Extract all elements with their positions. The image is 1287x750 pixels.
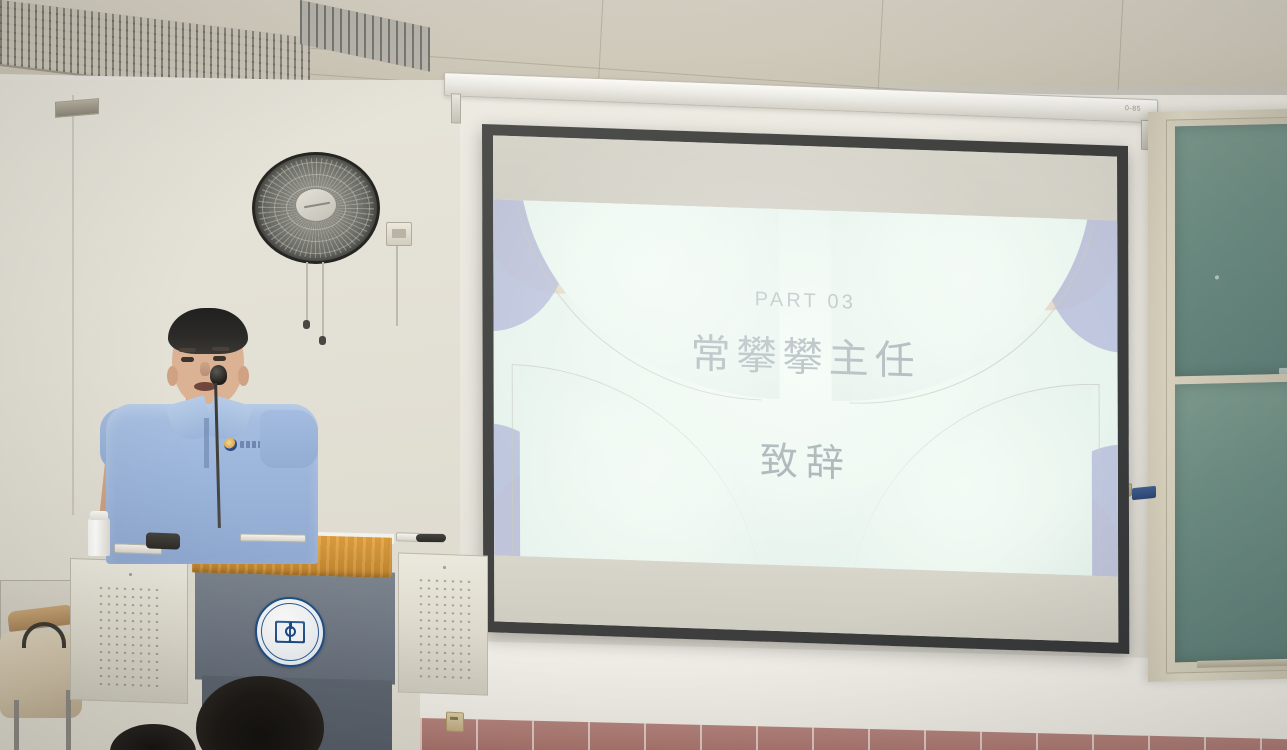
thermos-cup[interactable] bbox=[88, 518, 110, 556]
blackboard-panel-lower[interactable] bbox=[1175, 382, 1287, 663]
speaker-indicator bbox=[129, 573, 132, 576]
blackboard bbox=[1148, 109, 1287, 682]
slide-part-label: PART 03 bbox=[755, 288, 856, 314]
ear-right bbox=[238, 366, 249, 386]
ear-left bbox=[167, 366, 178, 386]
university-emblem-icon bbox=[255, 596, 325, 667]
paper-sheet[interactable] bbox=[240, 533, 306, 542]
slide-title: 常攀攀主任 bbox=[691, 329, 921, 387]
slide-subtitle: 致辞 bbox=[760, 429, 852, 487]
fan-switch-box[interactable] bbox=[386, 222, 412, 246]
shirt-placket bbox=[204, 418, 209, 468]
ceiling-tile-seam bbox=[878, 0, 884, 90]
speaker-grille bbox=[97, 584, 163, 692]
blackboard-eraser[interactable] bbox=[1132, 486, 1156, 501]
projection-screen-frame: PART 03 常攀攀主任 致辞 bbox=[482, 124, 1129, 654]
roller-bracket bbox=[451, 93, 461, 123]
slide-text-block: PART 03 常攀攀主任 致辞 bbox=[493, 199, 1118, 576]
blackboard-frame bbox=[1166, 117, 1287, 674]
lectern-speaker-left bbox=[70, 558, 188, 704]
emblem-glyph-icon bbox=[285, 626, 296, 637]
speaker-indicator bbox=[443, 566, 446, 569]
blackboard-panel-upper[interactable] bbox=[1175, 124, 1287, 377]
chalk-mark bbox=[1279, 368, 1287, 374]
shirt-sleeve-right bbox=[260, 410, 318, 468]
presentation-slide: PART 03 常攀攀主任 致辞 bbox=[493, 199, 1118, 576]
eyebrow-left bbox=[179, 348, 196, 352]
shirt-logo-icon bbox=[224, 438, 237, 451]
nose bbox=[200, 362, 210, 376]
lecture-hall-photo: 0-85 bbox=[0, 0, 1287, 750]
projection-screen-surface: PART 03 常攀攀主任 致辞 bbox=[493, 135, 1118, 642]
lectern-speaker-right bbox=[398, 552, 488, 695]
roller-label: 0-85 bbox=[1125, 105, 1141, 113]
desk-device[interactable] bbox=[416, 534, 446, 542]
eye-left bbox=[181, 357, 194, 362]
microphone-icon[interactable] bbox=[210, 365, 227, 385]
ceiling-tile-seam bbox=[598, 0, 604, 90]
wall-fan-icon bbox=[252, 152, 380, 264]
eye-right bbox=[213, 356, 226, 361]
thermos-cap bbox=[90, 511, 108, 520]
eyebrow-right bbox=[212, 347, 229, 351]
ceiling-tile-seam bbox=[1118, 0, 1124, 90]
fan-switch-cord[interactable] bbox=[396, 246, 398, 326]
chalk-tray bbox=[1197, 658, 1287, 667]
wall-seam bbox=[72, 95, 74, 515]
chair-leg bbox=[14, 700, 19, 750]
desk-device[interactable] bbox=[146, 532, 180, 549]
fan-hub bbox=[295, 188, 337, 222]
speaker-grille bbox=[417, 576, 473, 682]
